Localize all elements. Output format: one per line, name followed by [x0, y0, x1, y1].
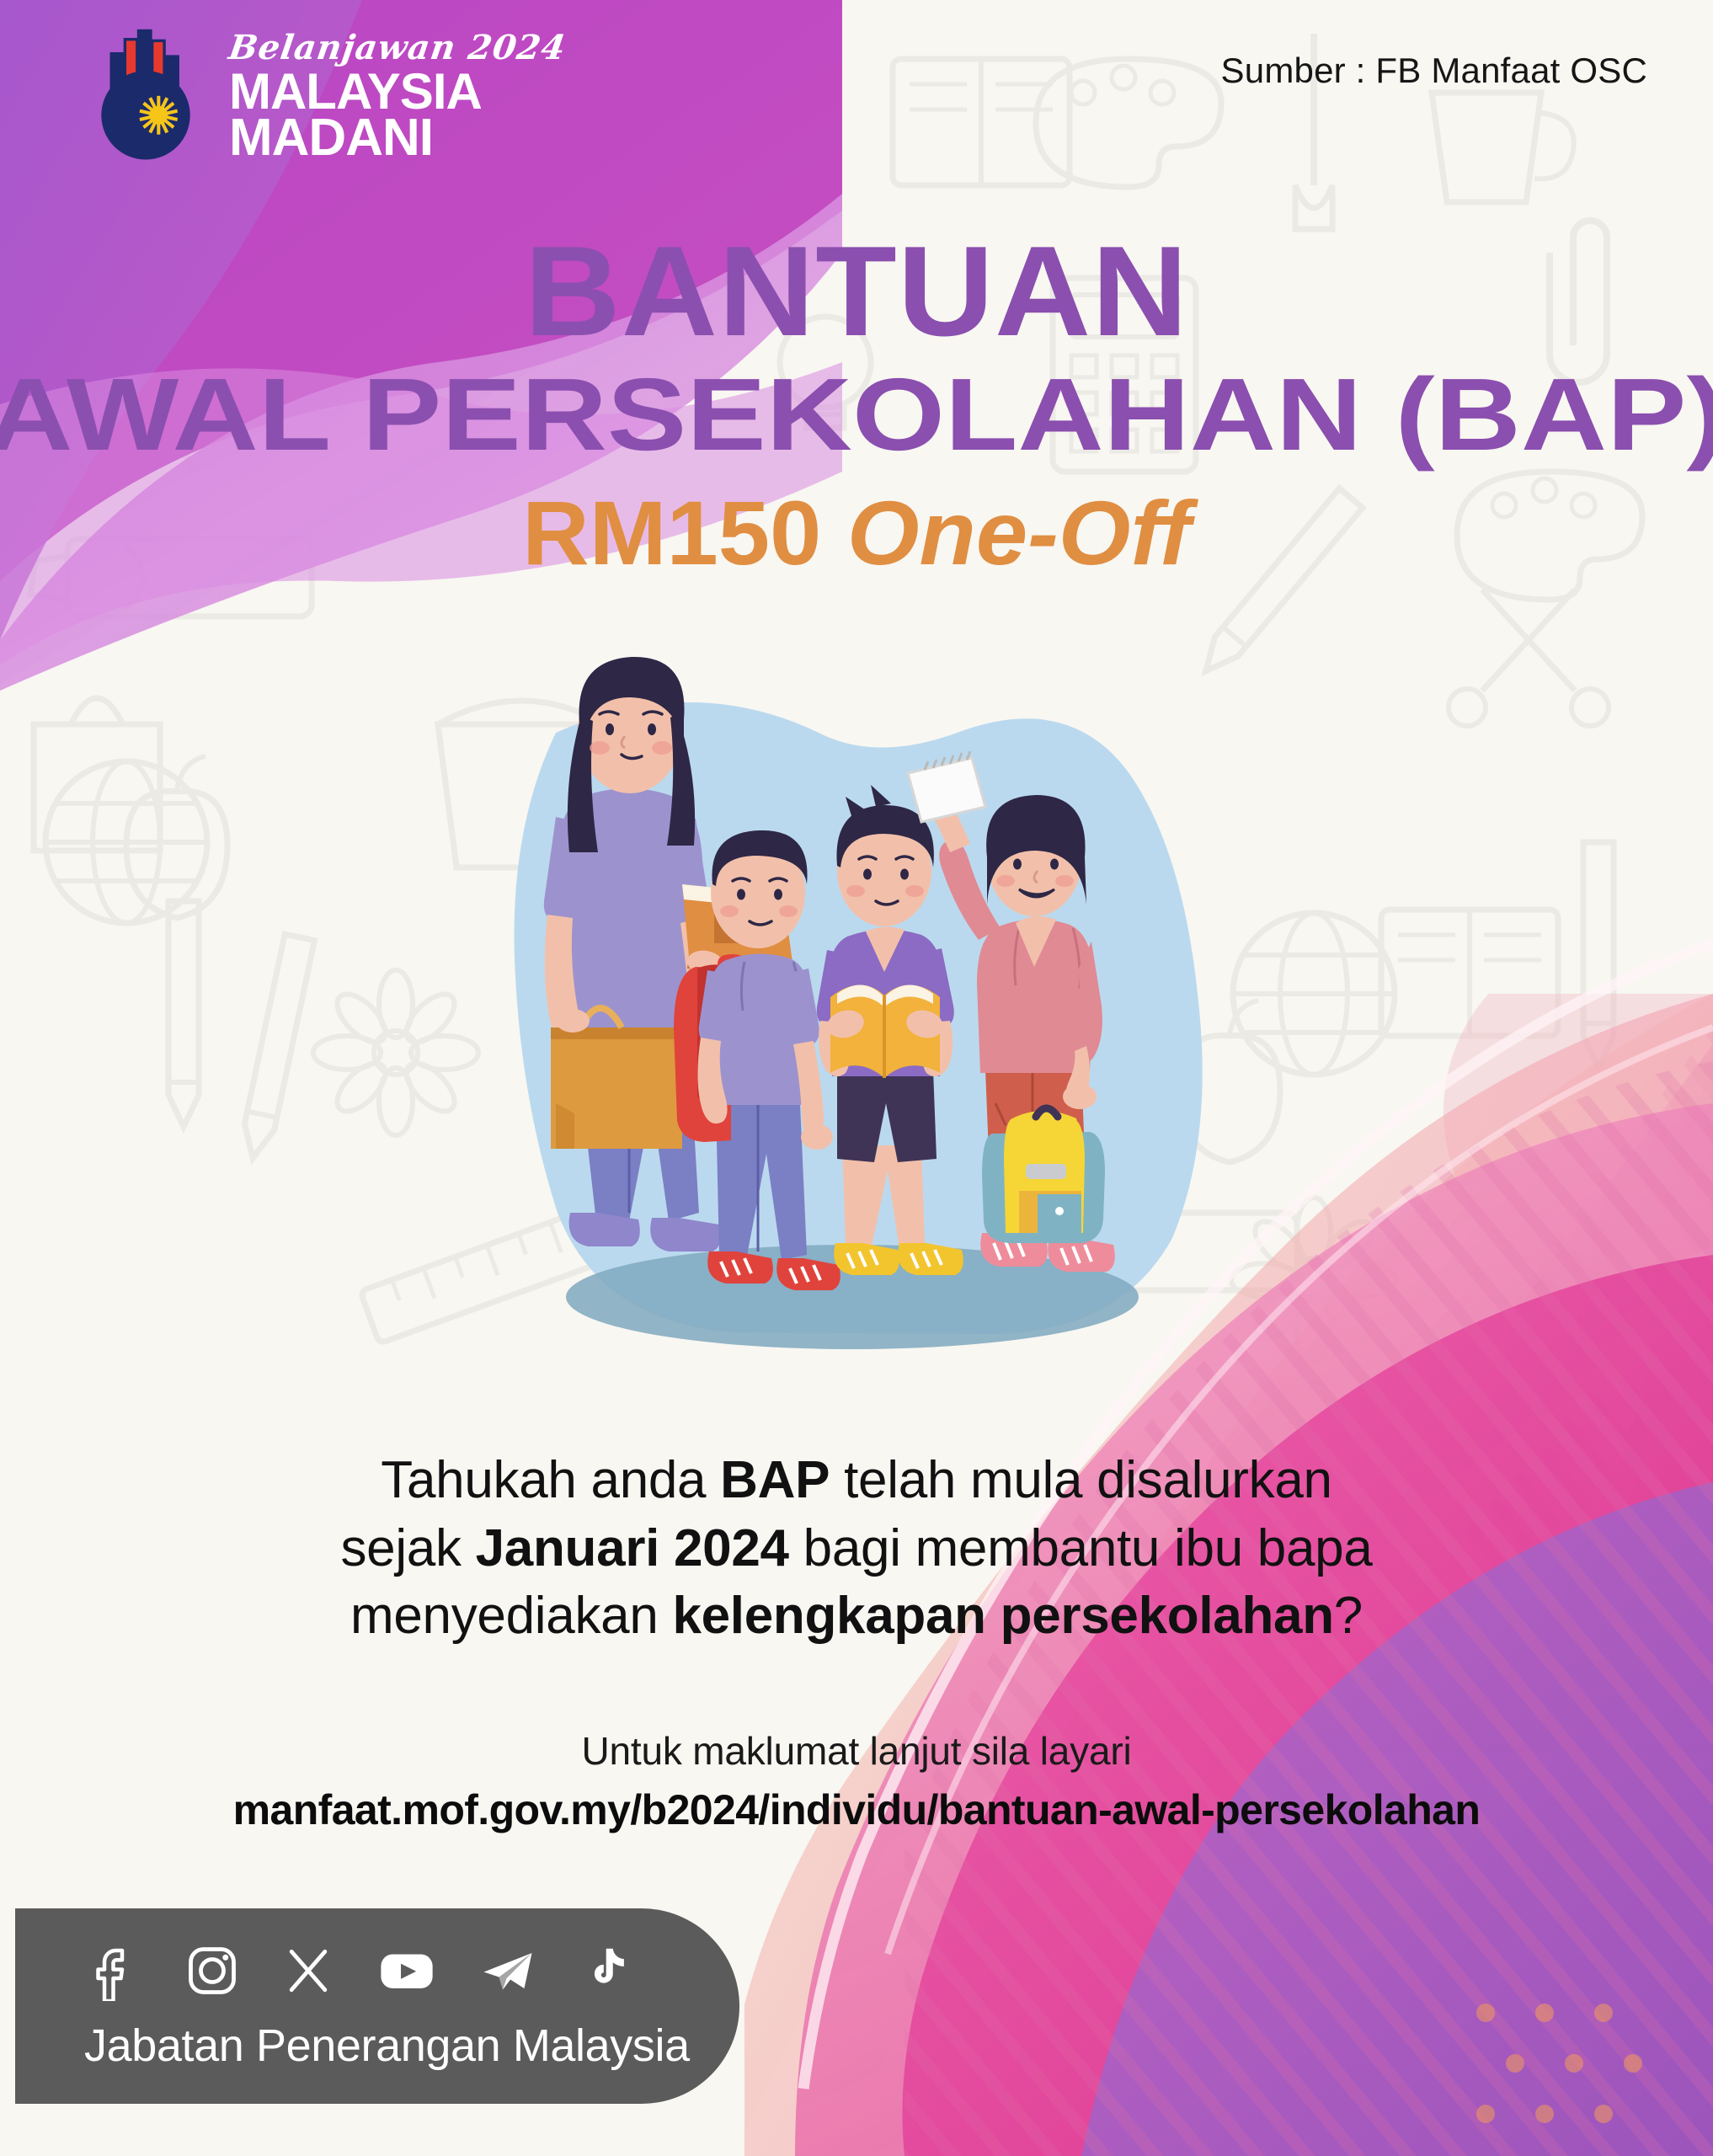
source-credit: Sumber : FB Manfaat OSC — [1221, 51, 1647, 91]
body-line-2-a: sejak — [340, 1519, 475, 1577]
telegram-icon[interactable] — [477, 1940, 539, 2001]
body-line-1-a: Tahukah anda — [381, 1451, 720, 1509]
body-paragraph: Tahukah anda BAP telah mula disalurkan s… — [0, 1447, 1713, 1651]
headline-amount: RM150 One-Off — [0, 488, 1713, 579]
body-line-3-a: menyediakan — [350, 1587, 672, 1645]
logo-budget-year: Belanjawan 2024 — [227, 31, 568, 65]
poster-root: Belanjawan 2024 MALAYSIA MADANI Sumber :… — [0, 0, 1713, 2156]
facebook-icon[interactable] — [84, 1940, 145, 2001]
headline-amount-value: RM150 — [522, 482, 821, 584]
madani-emblem-icon — [74, 24, 217, 167]
footer-agency-name: Jabatan Penerangan Malaysia — [84, 2020, 690, 2072]
youtube-icon[interactable] — [374, 1940, 440, 2001]
cta-url[interactable]: manfaat.mof.gov.my/b2024/individu/bantua… — [0, 1785, 1713, 1834]
malaysia-madani-logo: Belanjawan 2024 MALAYSIA MADANI — [74, 24, 566, 167]
body-line-2-bold: Januari 2024 — [476, 1519, 789, 1577]
cta-prompt: Untuk maklumat lanjut sila layari — [0, 1728, 1713, 1774]
cta-block: Untuk maklumat lanjut sila layari manfaa… — [0, 1728, 1713, 1834]
family-school-supplies-illustration — [456, 632, 1257, 1415]
body-line-1-c: telah mula disalurkan — [830, 1451, 1332, 1509]
body-line-3: menyediakan kelengkapan persekolahan? — [0, 1582, 1713, 1651]
headline-line-1: BANTUAN — [0, 229, 1713, 355]
body-line-1-bold: BAP — [720, 1451, 830, 1509]
tiktok-icon[interactable] — [576, 1940, 635, 2001]
footer-agency-bar: Jabatan Penerangan Malaysia — [15, 1908, 739, 2104]
body-line-1: Tahukah anda BAP telah mula disalurkan — [0, 1447, 1713, 1515]
x-twitter-icon[interactable] — [280, 1942, 337, 1999]
body-line-2: sejak Januari 2024 bagi membantu ibu bap… — [0, 1515, 1713, 1583]
body-line-3-bold: kelengkapan persekolahan — [672, 1587, 1333, 1645]
body-line-2-c: bagi membantu ibu bapa — [789, 1519, 1373, 1577]
body-line-3-c: ? — [1334, 1587, 1363, 1645]
instagram-icon[interactable] — [182, 1940, 243, 2001]
headline-line-2: AWAL PERSEKOLAHAN (BAP) — [0, 363, 1713, 466]
headline-block: BANTUAN AWAL PERSEKOLAHAN (BAP) RM150 On… — [0, 229, 1713, 579]
logo-line-madani: MADANI — [229, 112, 566, 164]
headline-amount-suffix: One-Off — [821, 482, 1191, 584]
social-icon-row — [84, 1940, 635, 2001]
